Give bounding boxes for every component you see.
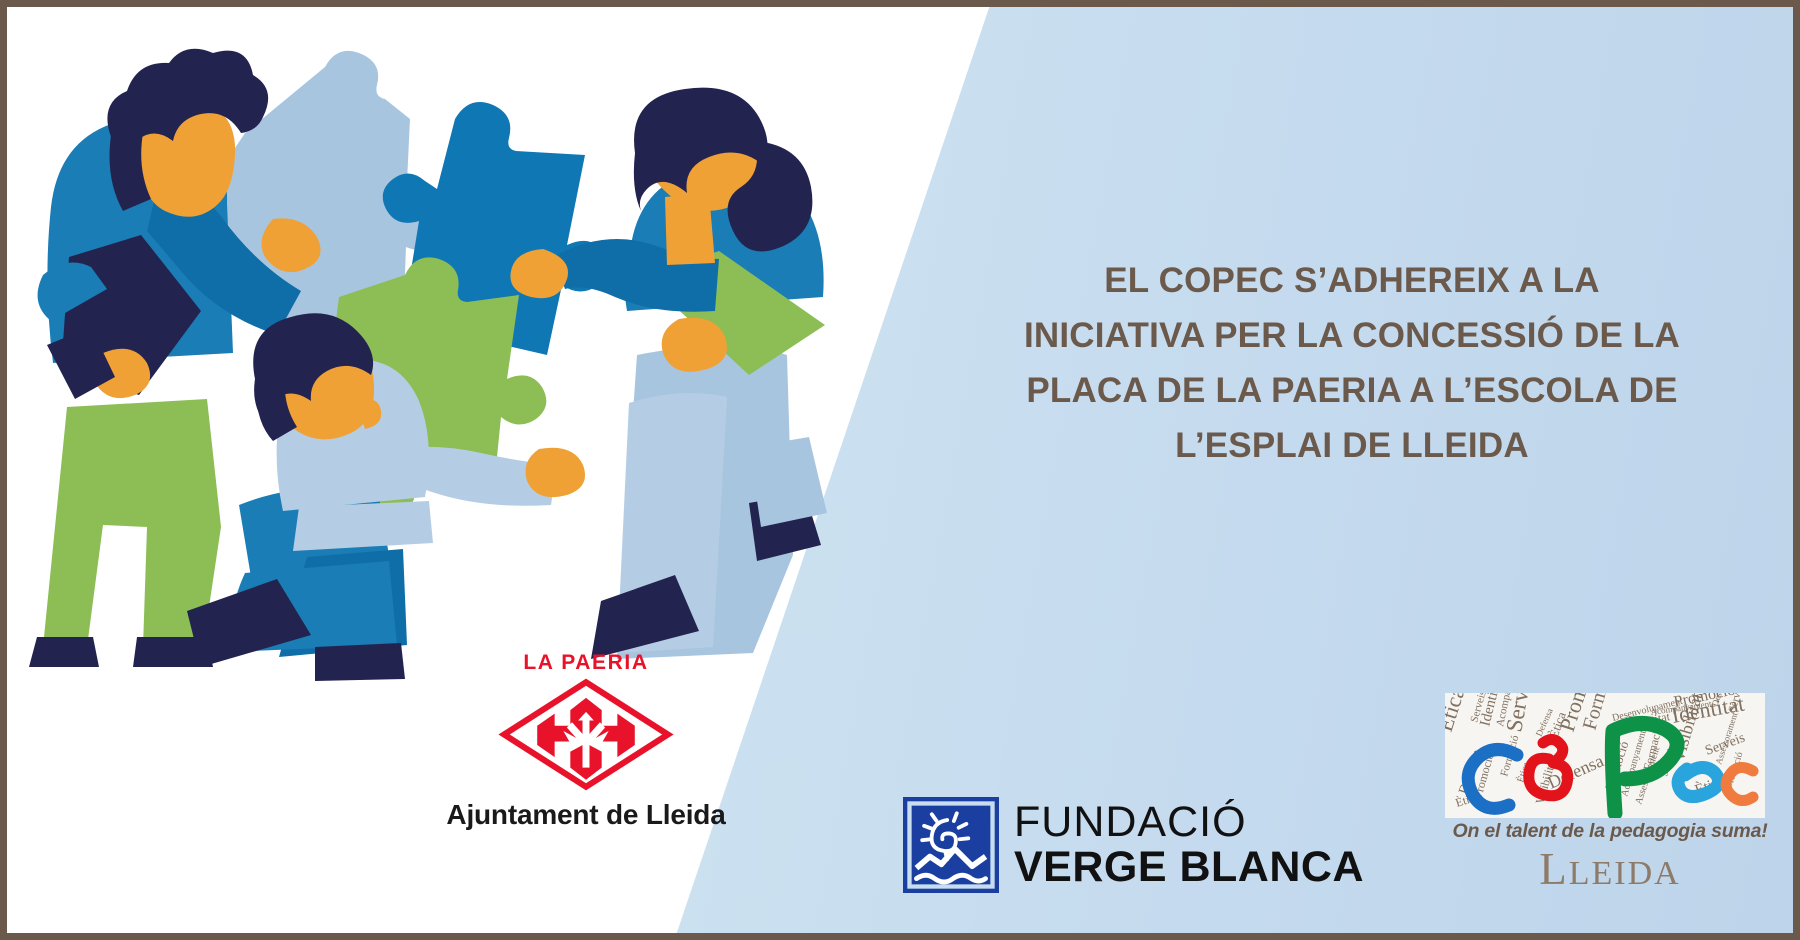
copec-wordcloud-mark: Ètica Serveis Identitat Acompanyament Se… [1445, 693, 1765, 818]
teamwork-illustration [7, 7, 867, 687]
headline-line-1: EL COPEC S’ADHEREIX A LA [937, 253, 1767, 308]
la-paeria-crest-icon [411, 677, 761, 792]
logo-copec: Ètica Serveis Identitat Acompanyament Se… [1445, 693, 1775, 892]
ajuntament-de-lleida-label: Ajuntament de Lleida [411, 799, 761, 831]
person-kneeling-child [187, 313, 585, 681]
headline-line-2: INICIATIVA PER LA CONCESSIÓ DE LA [937, 308, 1767, 363]
headline-line-3: PLACA DE LA PAERIA A L’ESCOLA DE [937, 363, 1767, 418]
verge-blanca-label: VERGE BLANCA [1014, 846, 1364, 889]
logo-la-paeria: LA PAERIA Ajuntament de Lleida [411, 652, 761, 837]
headline-line-4: L’ESPLAI DE LLEIDA [937, 418, 1767, 473]
la-paeria-wordmark: LA PAERIA [411, 652, 761, 673]
logo-fundacio-verge-blanca: FUNDACIÓ VERGE BLANCA [903, 797, 1364, 893]
copec-city-label: LLEIDA [1445, 847, 1775, 892]
verge-blanca-symbol-icon [903, 797, 999, 893]
headline-title: EL COPEC S’ADHEREIX A LA INICIATIVA PER … [937, 253, 1767, 473]
fundacio-label: FUNDACIÓ [1014, 801, 1364, 844]
copec-tagline: On el talent de la pedagogia suma! [1445, 820, 1775, 843]
verge-blanca-wordmark: FUNDACIÓ VERGE BLANCA [1014, 801, 1364, 889]
copec-wordcloud-icon: Ètica Serveis Identitat Acompanyament Se… [1445, 693, 1765, 818]
poster-canvas: EL COPEC S’ADHEREIX A LA INICIATIVA PER … [0, 0, 1800, 940]
